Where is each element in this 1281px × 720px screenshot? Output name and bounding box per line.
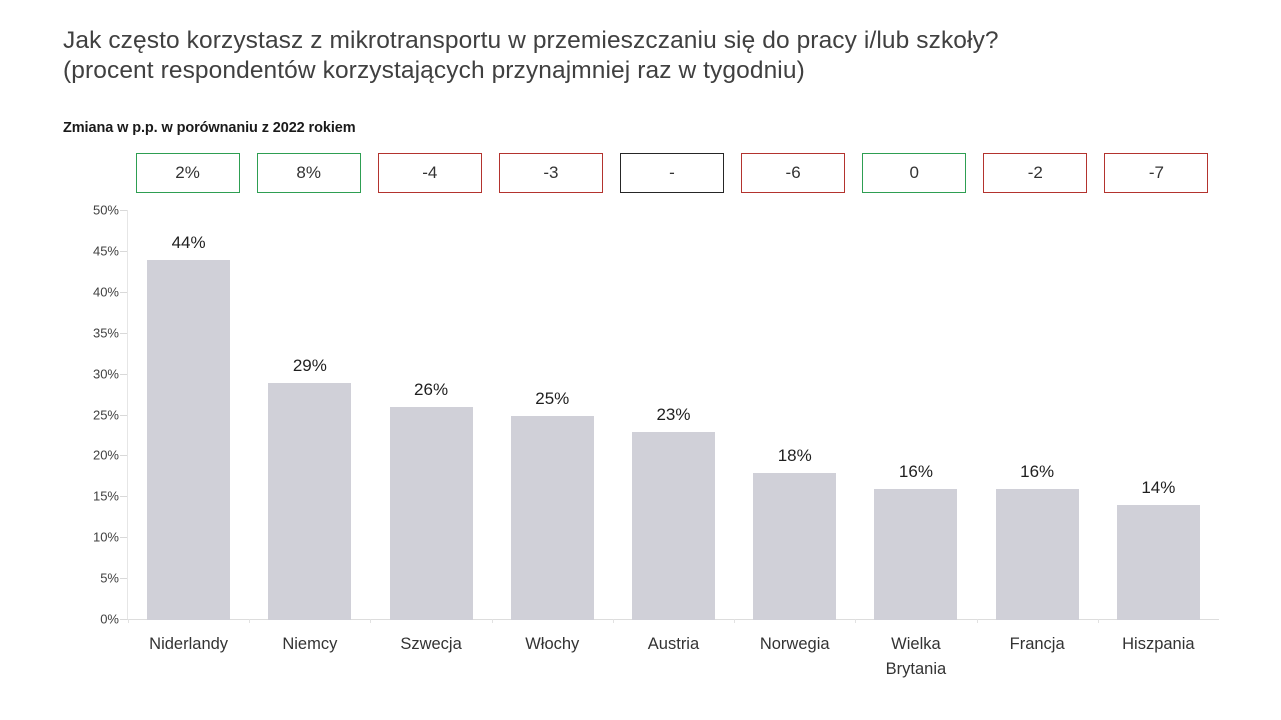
bar[interactable] <box>753 473 836 620</box>
y-axis-tick-label: 5% <box>100 571 119 586</box>
bar-group[interactable]: 26% <box>370 210 491 620</box>
chart-subtitle: Zmiana w p.p. w porównaniu z 2022 rokiem <box>63 120 356 136</box>
change-box: -4 <box>378 153 482 193</box>
bar[interactable] <box>147 260 230 620</box>
chart-title-line-2: (procent respondentów korzystających prz… <box>63 56 1243 86</box>
bar-group[interactable]: 16% <box>855 210 976 620</box>
bar-series: 44%29%26%25%23%18%16%16%14% <box>128 210 1219 620</box>
y-axis-labels: 50%45%40%35%30%25%20%15%10%5%0% <box>63 205 127 620</box>
change-box: -3 <box>499 153 603 193</box>
y-axis-tick-mark <box>120 537 127 538</box>
x-axis-labels: NiderlandyNiemcySzwecjaWłochyAustriaNorw… <box>128 632 1219 682</box>
change-box-cell: - <box>611 152 732 194</box>
x-axis-tick-mark <box>855 619 856 623</box>
y-axis-tick-label: 35% <box>93 325 119 340</box>
y-axis-tick-label: 25% <box>93 407 119 422</box>
change-box-cell: -3 <box>490 152 611 194</box>
x-axis-tick-label: Wielka Brytania <box>855 632 976 682</box>
x-axis-tick-mark <box>128 619 129 623</box>
page-title: Jak często korzystasz z mikrotransportu … <box>63 26 1243 86</box>
bar-group[interactable]: 25% <box>492 210 613 620</box>
bar-group[interactable]: 18% <box>734 210 855 620</box>
change-box-cell: 0 <box>854 152 975 194</box>
change-box: 2% <box>136 153 240 193</box>
x-axis-tick-mark <box>734 619 735 623</box>
x-axis-tick-mark <box>977 619 978 623</box>
y-axis-tick-mark <box>120 333 127 334</box>
y-axis-tick-mark <box>120 619 127 620</box>
bar-value-label: 44% <box>128 233 249 253</box>
x-axis-tick-label: Niemcy <box>249 632 370 682</box>
bar-value-label: 25% <box>492 389 613 409</box>
x-axis-tick-label: Hiszpania <box>1098 632 1219 682</box>
bar[interactable] <box>511 416 594 621</box>
bar-group[interactable]: 23% <box>613 210 734 620</box>
change-box-cell: 8% <box>248 152 369 194</box>
bar-value-label: 16% <box>977 462 1098 482</box>
bar[interactable] <box>268 383 351 620</box>
y-axis-tick-label: 20% <box>93 448 119 463</box>
change-box: 0 <box>862 153 966 193</box>
bar-value-label: 14% <box>1098 478 1219 498</box>
y-axis-tick-label: 15% <box>93 489 119 504</box>
y-axis-tick-label: 0% <box>100 612 119 627</box>
y-axis-tick-mark <box>120 455 127 456</box>
x-axis-tick-mark <box>613 619 614 623</box>
bar-group[interactable]: 14% <box>1098 210 1219 620</box>
y-axis-tick-mark <box>120 496 127 497</box>
change-boxes-row: 2%8%-4-3--60-2-7 <box>127 152 1217 194</box>
change-box: -7 <box>1104 153 1208 193</box>
y-axis-tick-label: 10% <box>93 530 119 545</box>
bar-value-label: 29% <box>249 356 370 376</box>
x-axis-tick-label: Niderlandy <box>128 632 249 682</box>
bar[interactable] <box>632 432 715 620</box>
x-axis-tick-label: Francja <box>977 632 1098 682</box>
bar-group[interactable]: 29% <box>249 210 370 620</box>
y-axis-tick-mark <box>120 415 127 416</box>
bar[interactable] <box>390 407 473 620</box>
change-box-cell: 2% <box>127 152 248 194</box>
bar-group[interactable]: 16% <box>977 210 1098 620</box>
change-box-cell: -2 <box>975 152 1096 194</box>
change-box: 8% <box>257 153 361 193</box>
change-box-cell: -6 <box>733 152 854 194</box>
bar[interactable] <box>996 489 1079 620</box>
x-axis-tick-mark <box>249 619 250 623</box>
x-axis-tick-mark <box>1098 619 1099 623</box>
bar-group[interactable]: 44% <box>128 210 249 620</box>
y-axis-tick-label: 45% <box>93 243 119 258</box>
bar-value-label: 23% <box>613 405 734 425</box>
x-axis-tick-label: Norwegia <box>734 632 855 682</box>
bar-value-label: 16% <box>855 462 976 482</box>
bar-value-label: 18% <box>734 446 855 466</box>
x-axis-tick-mark <box>492 619 493 623</box>
change-box: -2 <box>983 153 1087 193</box>
change-box-cell: -4 <box>369 152 490 194</box>
bar[interactable] <box>1117 505 1200 620</box>
y-axis-tick-mark <box>120 251 127 252</box>
x-axis-tick-label: Austria <box>613 632 734 682</box>
bar[interactable] <box>874 489 957 620</box>
chart-title-line-1: Jak często korzystasz z mikrotransportu … <box>63 26 1243 56</box>
y-axis-tick-mark <box>120 210 127 211</box>
change-box: - <box>620 153 724 193</box>
y-axis-tick-mark <box>120 578 127 579</box>
y-axis-tick-label: 30% <box>93 366 119 381</box>
change-box-cell: -7 <box>1096 152 1217 194</box>
y-axis-tick-label: 50% <box>93 203 119 218</box>
y-axis-tick-mark <box>120 292 127 293</box>
x-axis-tick-label: Szwecja <box>370 632 491 682</box>
x-axis-tick-mark <box>370 619 371 623</box>
x-axis-tick-label: Włochy <box>492 632 613 682</box>
y-axis-tick-label: 40% <box>93 284 119 299</box>
change-box: -6 <box>741 153 845 193</box>
bar-value-label: 26% <box>370 380 491 400</box>
chart-plot-area: 50%45%40%35%30%25%20%15%10%5%0% 44%29%26… <box>63 205 1223 625</box>
y-axis-tick-mark <box>120 374 127 375</box>
